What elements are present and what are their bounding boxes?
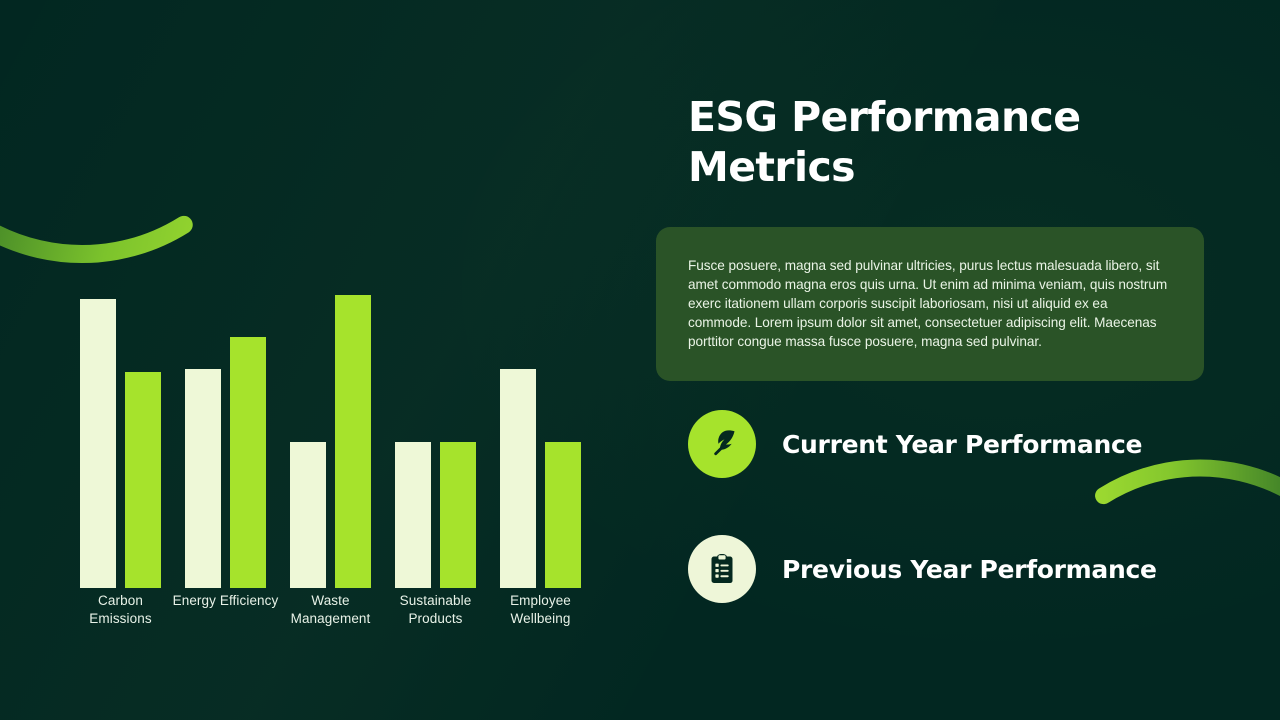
clipboard-checklist-icon	[705, 552, 739, 586]
description-card: Fusce posuere, magna sed pulvinar ultric…	[656, 227, 1204, 381]
legend-item-current-year[interactable]: Current Year Performance	[688, 410, 1142, 478]
bar	[185, 369, 221, 588]
legend-label-current-year: Current Year Performance	[782, 430, 1142, 459]
bar	[395, 442, 431, 588]
bar	[125, 372, 161, 588]
leaf-icon	[704, 426, 740, 462]
bar-group	[395, 270, 476, 588]
bar-group	[185, 270, 266, 588]
bar	[335, 295, 371, 588]
legend-badge-previous-year	[688, 535, 756, 603]
bar	[440, 442, 476, 588]
chart-plot-area	[80, 270, 600, 588]
legend-item-previous-year[interactable]: Previous Year Performance	[688, 535, 1157, 603]
bar	[500, 369, 536, 588]
bar	[290, 442, 326, 588]
category-label: Carbon Emissions	[67, 592, 174, 628]
category-label: Employee Wellbeing	[487, 592, 594, 628]
bar-group	[290, 270, 371, 588]
chart-category-labels: Carbon EmissionsEnergy EfficiencyWaste M…	[80, 592, 600, 650]
esg-bar-chart: Carbon EmissionsEnergy EfficiencyWaste M…	[60, 270, 620, 650]
legend-badge-current-year	[688, 410, 756, 478]
content-column: ESG Performance Metrics Fusce posuere, m…	[688, 0, 1228, 720]
description-text: Fusce posuere, magna sed pulvinar ultric…	[688, 256, 1172, 351]
bar	[80, 299, 116, 588]
bar	[545, 442, 581, 588]
category-label: Waste Management	[277, 592, 384, 628]
bar	[230, 337, 266, 588]
page-title: ESG Performance Metrics	[688, 92, 1158, 192]
bar-group	[500, 270, 581, 588]
category-label: Sustainable Products	[382, 592, 489, 628]
slide-root: Carbon EmissionsEnergy EfficiencyWaste M…	[0, 0, 1280, 720]
bar-group	[80, 270, 161, 588]
legend-label-previous-year: Previous Year Performance	[782, 555, 1157, 584]
category-label: Energy Efficiency	[172, 592, 279, 610]
ring-top-left-decoration	[0, 0, 292, 272]
